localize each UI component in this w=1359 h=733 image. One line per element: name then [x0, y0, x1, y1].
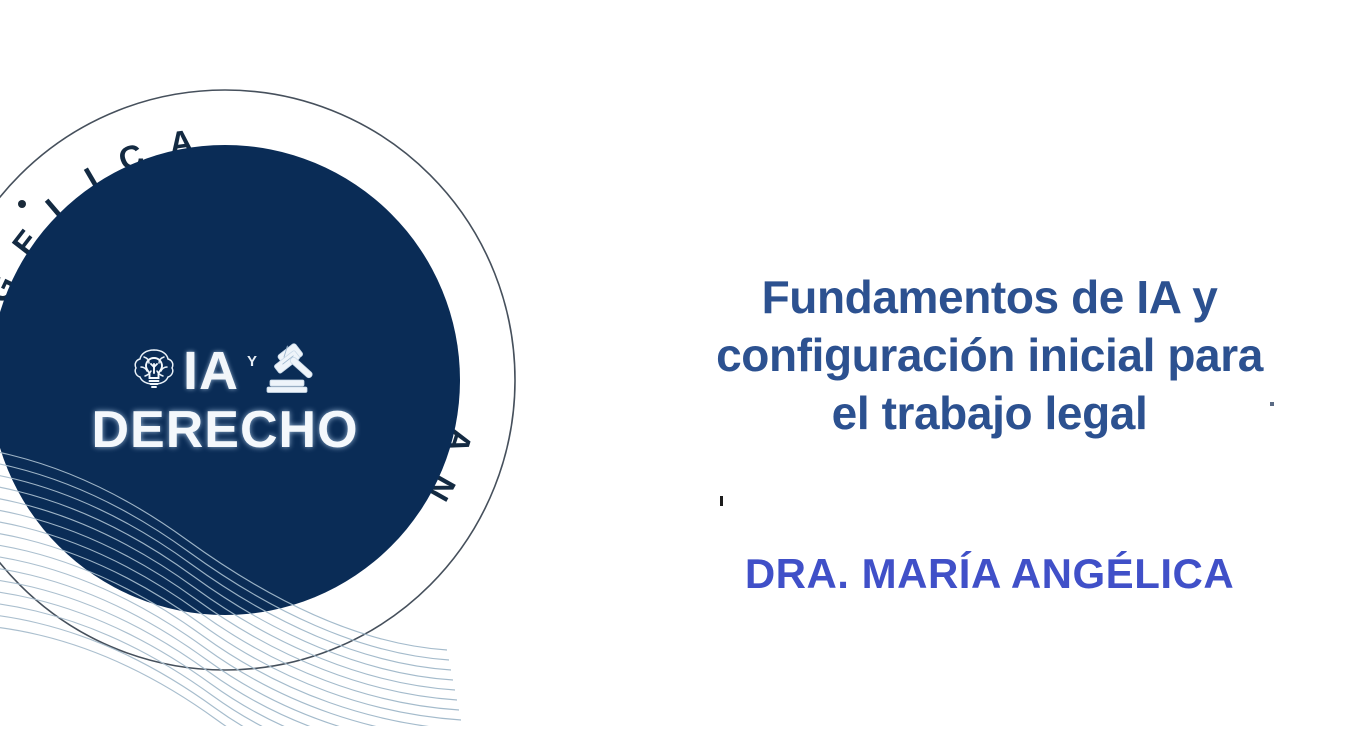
logo-pane: ANGELICA AN [0, 0, 560, 733]
ring-dot-left [18, 200, 26, 208]
logo-y-text: Y [247, 354, 257, 369]
text-pane: Fundamentos de IA y configuración inicia… [620, 0, 1359, 733]
logo-center-lockup: IA Y [60, 340, 390, 475]
stray-mark-lower [1270, 402, 1274, 406]
logo-ia-text: IA [183, 344, 239, 398]
stray-mark-upper [720, 496, 723, 506]
logo-derecho-text: DERECHO [60, 402, 390, 458]
logo-center-row-1: IA Y [60, 340, 390, 402]
slide-title: Fundamentos de IA y configuración inicia… [638, 268, 1341, 442]
logo-badge: ANGELICA AN [0, 8, 545, 726]
gavel-icon [261, 343, 319, 400]
slide-canvas: ANGELICA AN [0, 0, 1359, 733]
brain-bulb-icon [131, 345, 177, 398]
presenter-name: DRA. MARÍA ANGÉLICA [638, 550, 1341, 598]
